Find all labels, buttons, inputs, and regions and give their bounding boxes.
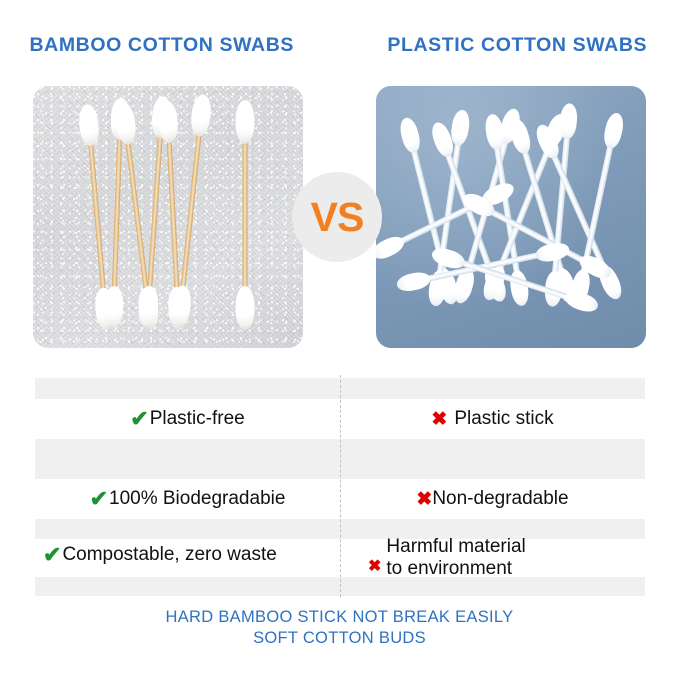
feature-label-line2: to environment bbox=[386, 558, 512, 579]
headings-row: BAMBOO COTTON SWABS PLASTIC COTTON SWABS bbox=[0, 34, 679, 57]
feature-label-multiline: Harmful materialto environment bbox=[386, 536, 525, 579]
footer-line-1: HARD BAMBOO STICK NOT BREAK EASILY bbox=[0, 607, 679, 628]
heading-plastic: PLASTIC COTTON SWABS bbox=[342, 34, 679, 57]
heading-bamboo: BAMBOO COTTON SWABS bbox=[0, 34, 342, 57]
footer-tagline: HARD BAMBOO STICK NOT BREAK EASILY SOFT … bbox=[0, 607, 679, 649]
table-cell-plastic-2: ✖ Non-degradable bbox=[340, 476, 645, 522]
table-cell-bamboo-1: ✔ Plastic-free bbox=[35, 396, 340, 442]
feature-label-line1: Harmful material bbox=[386, 536, 525, 557]
table-row: ✔ Compostable, zero waste ✖ Harmful mate… bbox=[35, 530, 645, 580]
table-row: ✔ 100% Biodegradabie ✖ Non-degradable bbox=[35, 476, 645, 522]
feature-label: Plastic-free bbox=[150, 408, 245, 430]
table-cell-bamboo-3: ✔ Compostable, zero waste bbox=[35, 530, 320, 580]
plastic-swabs-photo-card bbox=[376, 86, 646, 348]
plastic-swab-pile bbox=[376, 86, 646, 348]
table-cell-bamboo-2: ✔ 100% Biodegradabie bbox=[35, 476, 340, 522]
cross-icon: ✖ bbox=[431, 410, 447, 429]
comparison-table: ✔ Plastic-free ✖ Plastic stick ✔ 100% Bi… bbox=[35, 378, 645, 596]
table-cell-plastic-1: ✖ Plastic stick bbox=[340, 396, 645, 442]
vs-label: VS bbox=[311, 197, 364, 238]
check-icon: ✔ bbox=[43, 544, 61, 566]
cross-icon: ✖ bbox=[368, 559, 381, 575]
check-icon: ✔ bbox=[90, 488, 108, 510]
table-cell-plastic-3: ✖ Harmful materialto environment bbox=[320, 530, 645, 580]
feature-label: Non-degradable bbox=[432, 488, 568, 510]
bamboo-swab-single bbox=[233, 104, 257, 326]
cross-icon: ✖ bbox=[416, 490, 432, 509]
feature-label: 100% Biodegradabie bbox=[109, 488, 285, 510]
infographic-page: BAMBOO COTTON SWABS PLASTIC COTTON SWABS bbox=[0, 0, 679, 679]
check-icon: ✔ bbox=[130, 408, 148, 430]
bamboo-swabs-photo-card bbox=[33, 86, 303, 348]
feature-label: Compostable, zero waste bbox=[62, 544, 276, 566]
vs-badge: VS bbox=[292, 172, 382, 262]
table-row: ✔ Plastic-free ✖ Plastic stick bbox=[35, 396, 645, 442]
feature-label: Plastic stick bbox=[454, 408, 553, 430]
footer-line-2: SOFT COTTON BUDS bbox=[0, 628, 679, 649]
bamboo-swab-group bbox=[33, 86, 303, 348]
